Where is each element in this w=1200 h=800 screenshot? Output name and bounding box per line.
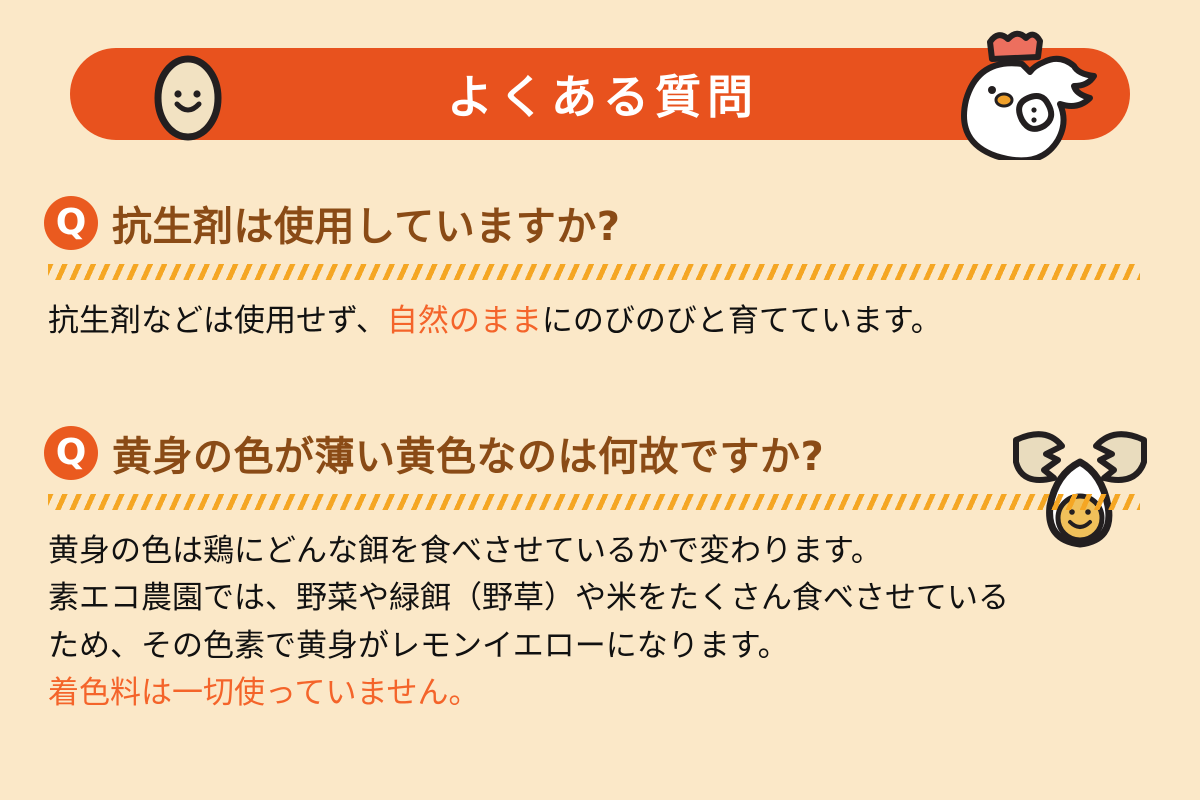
question-text: 抗生剤は使用していますか? bbox=[112, 194, 621, 252]
dashed-divider bbox=[48, 264, 1140, 280]
question-text: 黄身の色が薄い黄色なのは何故ですか? bbox=[112, 424, 824, 482]
page-title-text: よくある質問 bbox=[441, 61, 759, 127]
smiling-egg-icon bbox=[150, 50, 226, 142]
chicken-icon bbox=[948, 28, 1098, 160]
faq-item-2: Q 黄身の色が薄い黄色なのは何故ですか? 黄身の色は鶏にどんな餌を食べさせている… bbox=[0, 420, 1200, 718]
faq-page: よくある質問 bbox=[0, 0, 1200, 800]
question-badge: Q bbox=[44, 196, 98, 250]
answer-line: 素エコ農園では、野菜や緑餌（野草）や米をたくさん食べさせている bbox=[48, 575, 1200, 622]
answer-text: 抗生剤などは使用せず、自然のままにのびのびと育てています。 bbox=[0, 298, 1200, 345]
answer-line-highlight: 着色料は一切使っていません。 bbox=[48, 670, 1200, 717]
answer-segment: 抗生剤などは使用せず、 bbox=[48, 303, 387, 339]
answer-text: 黄身の色は鶏にどんな餌を食べさせているかで変わります。 素エコ農園では、野菜や緑… bbox=[0, 528, 1200, 718]
answer-segment: にのびのびと育てています。 bbox=[542, 303, 942, 339]
answer-line: 黄身の色は鶏にどんな餌を食べさせているかで変わります。 bbox=[48, 528, 1200, 575]
question-row: Q 抗生剤は使用していますか? bbox=[0, 190, 1200, 256]
faq-item-1: Q 抗生剤は使用していますか? 抗生剤などは使用せず、自然のままにのびのびと育て… bbox=[0, 190, 1200, 345]
dashed-divider bbox=[48, 494, 1140, 510]
question-row: Q 黄身の色が薄い黄色なのは何故ですか? bbox=[0, 420, 1200, 486]
question-badge: Q bbox=[44, 426, 98, 480]
answer-line: ため、その色素で黄身がレモンイエローになります。 bbox=[48, 623, 1200, 670]
answer-line: 抗生剤などは使用せず、自然のままにのびのびと育てています。 bbox=[48, 298, 1200, 345]
answer-segment-highlight: 自然のまま bbox=[387, 303, 542, 339]
